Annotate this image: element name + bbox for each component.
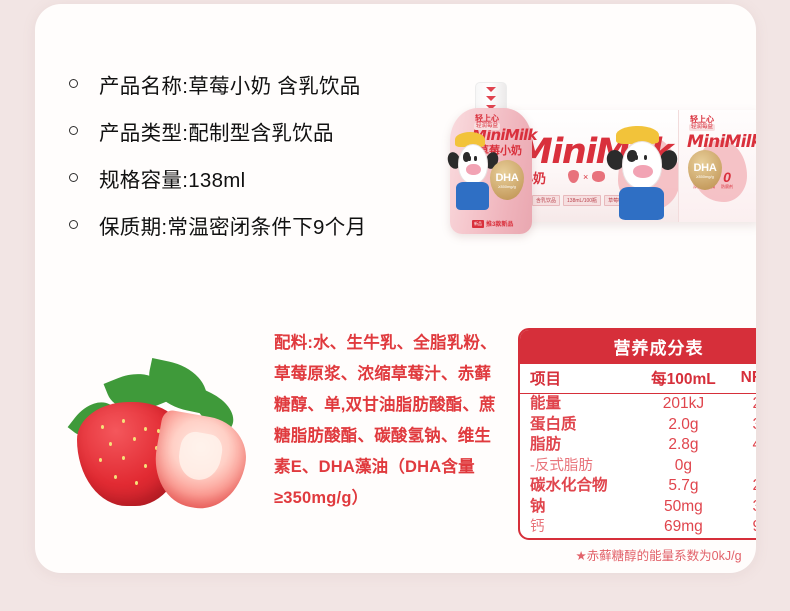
cow-muzzle (633, 165, 653, 179)
spec-label: 规格容量:138ml (99, 163, 246, 193)
nutrition-row: 钙69mg9% (520, 517, 756, 538)
strawberry-icon (568, 170, 579, 183)
spec-label: 产品类型:配制型含乳饮品 (99, 116, 334, 146)
strawberry-half-core (176, 429, 225, 483)
bullet-icon (69, 173, 78, 182)
dha-badge-sub: ≥350mg/g (498, 184, 516, 189)
brand-mark-line2: 轻润每益 (689, 124, 715, 130)
strawberry-half (148, 409, 253, 515)
nutrition-item-nrv: 9% (731, 517, 757, 538)
nutrition-item-name: 蛋白质 (520, 415, 636, 436)
nutrition-table-body: 能量201kJ2%蛋白质2.0g3%脂肪2.8g4%-反式脂肪0g碳水化合物5.… (520, 394, 756, 538)
nutrition-row: 能量201kJ2% (520, 394, 756, 415)
spec-list: 产品名称:草莓小奶 含乳饮品产品类型:配制型含乳饮品规格容量:138ml保质期:… (69, 60, 469, 248)
bullet-icon (69, 79, 78, 88)
bottle-bottom-tag: 新品 推3款新品 (472, 219, 513, 228)
nutrition-header-row: 项目 每100mL NRV% (520, 364, 756, 394)
cow-eye-right (644, 155, 648, 160)
zero-claim-value: 0 (723, 170, 731, 184)
spec-row: 规格容量:138ml (69, 154, 469, 201)
cow-icon (592, 171, 605, 182)
strawberry-photo (51, 360, 256, 520)
product-carton: MiniMilk 小奶 × 白 含乳饮品 138mL/100瓶 草莓味 (510, 110, 756, 222)
cow-overalls (619, 187, 664, 220)
nutrition-note: ★赤藓糖醇的能量系数为0kJ/g (518, 540, 756, 564)
cow-muzzle (466, 164, 480, 175)
brand-mark: 轻上心 轻润每益 (689, 115, 715, 131)
nutrition-row: 脂肪2.8g4% (520, 435, 756, 456)
bottom-tag-text: 推3款新品 (486, 219, 513, 228)
nutrition-table: 项目 每100mL NRV% 能量201kJ2%蛋白质2.0g3%脂肪2.8g4… (520, 364, 756, 538)
nutrition-item-value: 69mg (636, 517, 730, 538)
bullet-icon (69, 126, 78, 135)
nutrition-item-nrv: 3% (731, 415, 757, 436)
nutrition-item-value: 50mg (636, 497, 730, 518)
product-photo: MiniMilk 小奶 × 白 含乳饮品 138mL/100瓶 草莓味 (430, 82, 756, 244)
nutrition-item-nrv: 2% (731, 394, 757, 415)
nutrition-item-value: 5.7g (636, 476, 730, 497)
nutrition-item-value: 201kJ (636, 394, 730, 415)
nutrition-item-value: 0g (636, 456, 730, 477)
chevron-down-icon (486, 87, 496, 92)
brand-mark-line1: 轻上心 (475, 114, 499, 123)
strip-item: 138mL/100瓶 (563, 195, 601, 206)
nutrition-item-name: 脂肪 (520, 435, 636, 456)
nutrition-row: 碳水化合物5.7g2% (520, 476, 756, 497)
nutrition-facts: 营养成分表 项目 每100mL NRV% 能量201kJ2%蛋白质2.0g3%脂… (518, 328, 756, 564)
cow-face (458, 144, 487, 184)
dha-badge-title: DHA (496, 172, 519, 184)
carton-cow-mascot (610, 126, 674, 218)
cow-eye-left (468, 156, 470, 160)
brand-mark-line2: 轻润每益 (474, 123, 500, 129)
nutrition-item-nrv: 4% (731, 435, 757, 456)
dha-badge-title: DHA (694, 162, 717, 174)
strip-item: 含乳饮品 (532, 195, 560, 206)
spec-row: 产品名称:草莓小奶 含乳饮品 (69, 60, 469, 107)
multiply-icon: × (583, 172, 588, 182)
dha-badge-sub: ≥350mg/g (696, 174, 714, 179)
carton-side-logo: MiniMilk (687, 132, 756, 152)
cow-face (622, 141, 663, 189)
nutrition-header-item: 项目 (520, 364, 636, 394)
nutrition-row: 钠50mg3% (520, 497, 756, 518)
nutrition-header-nrv: NRV% (731, 364, 757, 394)
nutrition-box: 营养成分表 项目 每100mL NRV% 能量201kJ2%蛋白质2.0g3%脂… (518, 328, 756, 540)
nutrition-item-value: 2.0g (636, 415, 730, 436)
zero-claim-label: 防腐剂 (721, 184, 733, 190)
cow-eye-right (474, 156, 476, 160)
carton-icon-row: × (568, 170, 605, 183)
product-info-card: 产品名称:草莓小奶 含乳饮品产品类型:配制型含乳饮品规格容量:138ml保质期:… (35, 4, 756, 573)
nutrition-title: 营养成分表 (520, 330, 756, 364)
nutrition-item-name: 能量 (520, 394, 636, 415)
nutrition-item-name: 碳水化合物 (520, 476, 636, 497)
chevron-down-icon (486, 96, 496, 101)
cow-overalls (456, 182, 488, 209)
bullet-icon (69, 220, 78, 229)
nutrition-header-per: 每100mL (636, 364, 730, 394)
nutrition-item-name: -反式脂肪 (520, 456, 636, 477)
nutrition-item-nrv (731, 456, 757, 477)
bottle-cow-mascot (450, 132, 496, 208)
nutrition-row: 蛋白质2.0g3% (520, 415, 756, 436)
nutrition-item-nrv: 2% (731, 476, 757, 497)
spec-row: 保质期:常温密闭条件下9个月 (69, 201, 469, 248)
nutrition-item-nrv: 3% (731, 497, 757, 518)
nutrition-item-value: 2.8g (636, 435, 730, 456)
bottle-brand-mark: 轻上心 轻润每益 (474, 114, 500, 130)
zero-claim: 0 防腐剂 (721, 170, 733, 190)
nutrition-item-name: 钙 (520, 517, 636, 538)
spec-label: 保质期:常温密闭条件下9个月 (99, 210, 366, 240)
nutrition-item-name: 钠 (520, 497, 636, 518)
spec-row: 产品类型:配制型含乳饮品 (69, 107, 469, 154)
spec-label: 产品名称:草莓小奶 含乳饮品 (99, 69, 361, 99)
product-bottle: 轻上心 轻润每益 MiniMilk 草莓小奶 DHA ≥350mg/g (448, 82, 534, 234)
ingredients-text: 配料:水、生牛乳、全脂乳粉、草莓原浆、浓缩草莓汁、赤藓糖醇、单,双甘油脂肪酸酯、… (274, 328, 506, 514)
nutrition-row: -反式脂肪0g (520, 456, 756, 477)
bottom-tag-badge: 新品 (472, 220, 484, 228)
brand-mark-line1: 轻上心 (690, 115, 714, 124)
cow-eye-left (635, 155, 639, 160)
